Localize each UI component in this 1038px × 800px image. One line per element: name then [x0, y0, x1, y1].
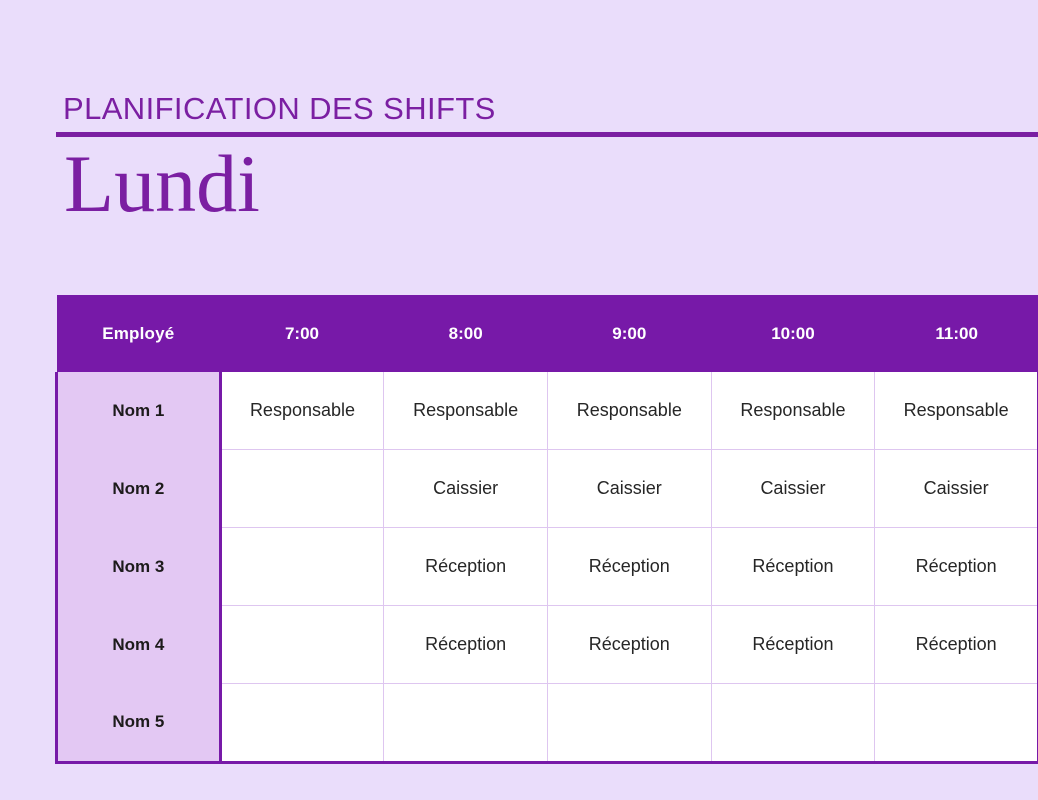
- shift-cell[interactable]: [220, 606, 384, 684]
- table-body: Nom 1 Responsable Responsable Responsabl…: [57, 372, 1038, 763]
- shift-cell[interactable]: Réception: [384, 606, 548, 684]
- column-header-time-4: 11:00: [875, 295, 1038, 372]
- table-row: Nom 5: [57, 684, 1038, 763]
- shift-cell[interactable]: Responsable: [220, 372, 384, 450]
- row-label-employee: Nom 2: [57, 450, 221, 528]
- title-divider-rule: [56, 132, 1038, 137]
- shift-cell[interactable]: Réception: [711, 528, 875, 606]
- column-header-time-0: 7:00: [220, 295, 384, 372]
- page-title: Lundi: [64, 143, 260, 225]
- shift-cell[interactable]: Réception: [547, 528, 711, 606]
- column-header-time-1: 8:00: [384, 295, 548, 372]
- shift-cell[interactable]: [547, 684, 711, 763]
- slide-kicker: PLANIFICATION DES SHIFTS: [63, 93, 496, 124]
- table-header: Employé 7:00 8:00 9:00 10:00 11:00: [57, 295, 1038, 372]
- shift-cell[interactable]: Réception: [711, 606, 875, 684]
- shift-cell[interactable]: Responsable: [711, 372, 875, 450]
- shift-cell[interactable]: Caissier: [711, 450, 875, 528]
- column-header-employee: Employé: [57, 295, 221, 372]
- row-label-employee: Nom 4: [57, 606, 221, 684]
- column-header-time-3: 10:00: [711, 295, 875, 372]
- shift-cell[interactable]: Réception: [875, 606, 1038, 684]
- shift-cell[interactable]: [875, 684, 1038, 763]
- table-row: Nom 4 Réception Réception Réception Réce…: [57, 606, 1038, 684]
- table-row: Nom 3 Réception Réception Réception Réce…: [57, 528, 1038, 606]
- shift-cell[interactable]: Caissier: [547, 450, 711, 528]
- shift-cell[interactable]: Responsable: [875, 372, 1038, 450]
- table-row: Nom 1 Responsable Responsable Responsabl…: [57, 372, 1038, 450]
- shift-cell[interactable]: Caissier: [384, 450, 548, 528]
- shift-cell[interactable]: [220, 450, 384, 528]
- shift-cell[interactable]: Réception: [547, 606, 711, 684]
- table-header-row: Employé 7:00 8:00 9:00 10:00 11:00: [57, 295, 1038, 372]
- table-row: Nom 2 Caissier Caissier Caissier Caissie…: [57, 450, 1038, 528]
- column-header-time-2: 9:00: [547, 295, 711, 372]
- shift-cell[interactable]: Réception: [875, 528, 1038, 606]
- shift-cell[interactable]: [220, 528, 384, 606]
- shift-schedule-table: Employé 7:00 8:00 9:00 10:00 11:00 Nom 1…: [55, 295, 1038, 764]
- slide-canvas: PLANIFICATION DES SHIFTS Lundi Employé 7…: [0, 0, 1038, 800]
- shift-cell[interactable]: Caissier: [875, 450, 1038, 528]
- row-label-employee: Nom 5: [57, 684, 221, 763]
- shift-cell[interactable]: Réception: [384, 528, 548, 606]
- row-label-employee: Nom 1: [57, 372, 221, 450]
- shift-cell[interactable]: Responsable: [547, 372, 711, 450]
- shift-cell[interactable]: Responsable: [384, 372, 548, 450]
- shift-cell[interactable]: [384, 684, 548, 763]
- row-label-employee: Nom 3: [57, 528, 221, 606]
- shift-cell[interactable]: [220, 684, 384, 763]
- shift-cell[interactable]: [711, 684, 875, 763]
